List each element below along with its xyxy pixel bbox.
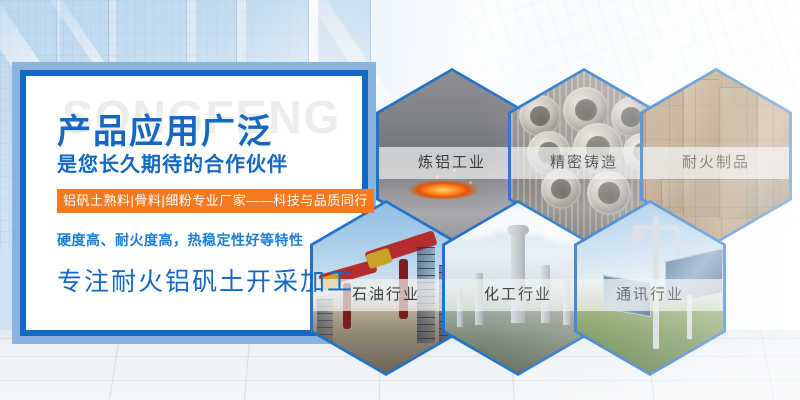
tagline-bar: 铝矾土熟料|骨料|细粉专业厂家——科技与品质同行: [57, 189, 374, 213]
banner-copy: SONGFENG 产品应用广泛 是您长久期待的合作伙伴 铝矾土熟料|骨料|细粉专…: [0, 0, 800, 400]
promotional-banner: 炼铝工业 精密铸造: [0, 0, 800, 400]
focus-text: 专注耐火铝矾土开采加工: [57, 262, 354, 298]
feature-text: 硬度高、耐火度高，热稳定性好等特性: [57, 230, 304, 250]
headline-primary: 产品应用广泛: [57, 104, 273, 153]
headline-secondary: 是您长久期待的合作伙伴: [57, 148, 288, 177]
